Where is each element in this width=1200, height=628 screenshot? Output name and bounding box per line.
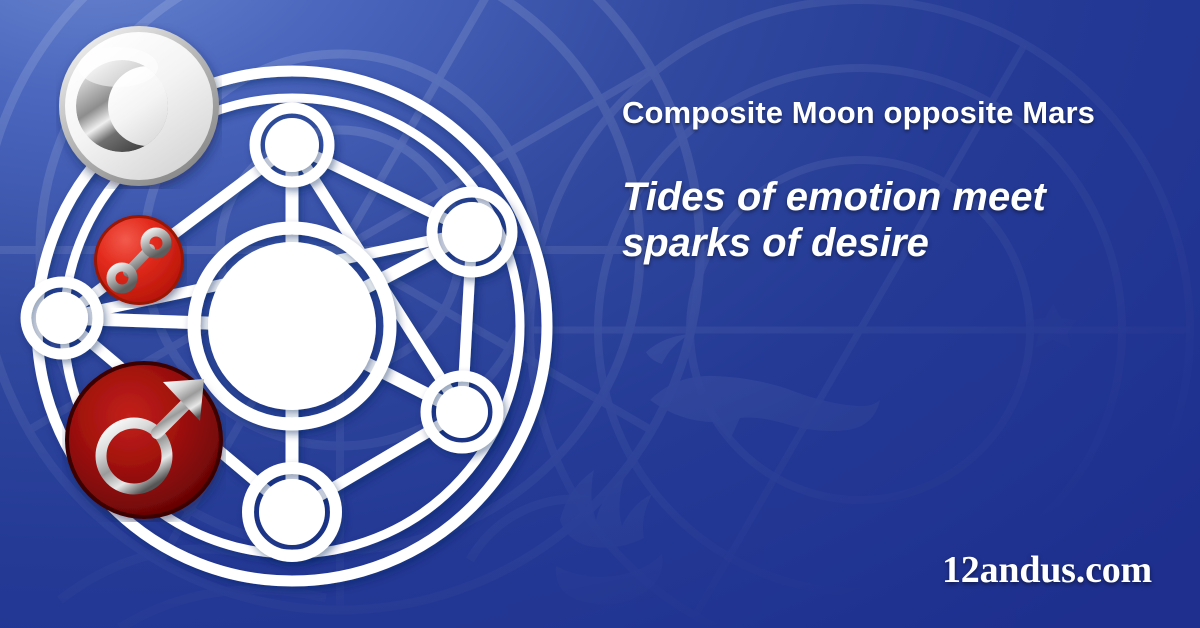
banner-root: Composite Moon opposite Mars Tides of em… [0,0,1200,628]
wheel-node-upper-right [432,192,512,272]
site-logo[interactable]: 12andus.com [942,548,1152,592]
wheel-node-bottom [248,468,336,556]
mars-planet-badge [62,358,226,522]
page-title: Composite Moon opposite Mars [622,95,1180,132]
opposition-aspect-badge [91,212,187,308]
wheel-node-left [26,282,98,354]
wheel-node-top [255,108,329,182]
banner-text-column: Composite Moon opposite Mars Tides of em… [622,95,1180,267]
tagline-line-1: Tides of emotion meet [622,175,1046,219]
moon-planet-badge [56,23,222,189]
tagline: Tides of emotion meet sparks of desire [622,174,1082,268]
tagline-line-2: sparks of desire [622,221,929,265]
wheel-node-lower-right [426,376,498,448]
